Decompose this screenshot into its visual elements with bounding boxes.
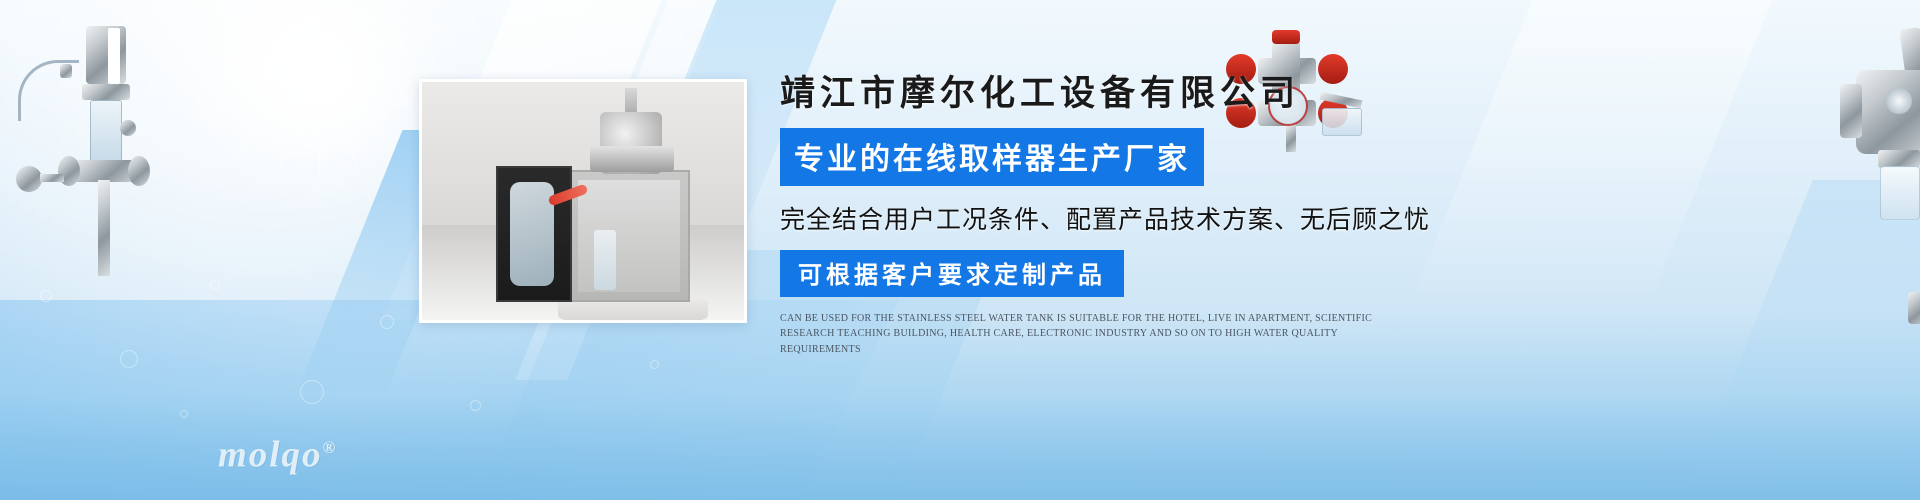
valve-flange	[1840, 84, 1862, 138]
english-description: CAN BE USED FOR THE STAINLESS STEEL WATE…	[780, 311, 1380, 358]
product-photo-inner	[422, 82, 744, 320]
sun-ray-icon	[169, 71, 319, 73]
photo-valve-flange	[590, 146, 674, 172]
sampler-side-port	[128, 156, 150, 186]
watermark-logo-text: molqo	[218, 435, 323, 476]
watermark-logo: molqo®	[218, 434, 337, 477]
bubble-icon	[120, 350, 138, 368]
banner-text-block: 靖江市摩尔化工设备有限公司 专业的在线取样器生产厂家 完全结合用户工况条件、配置…	[780, 72, 1400, 357]
registered-trademark-icon: ®	[323, 438, 338, 457]
promotional-banner: 靖江市摩尔化工设备有限公司 专业的在线取样器生产厂家 完全结合用户工况条件、配置…	[0, 0, 1920, 500]
sampler-label	[108, 28, 120, 84]
company-name: 靖江市摩尔化工设备有限公司	[780, 72, 1400, 116]
headline-highlight-secondary: 可根据客户要求定制产品	[780, 250, 1124, 297]
bubble-icon	[180, 410, 188, 418]
photo-door-window	[510, 182, 554, 286]
sample-bottle	[1880, 166, 1920, 220]
sun-ray-icon	[318, 72, 320, 222]
sampler-glass-tube	[90, 100, 122, 168]
bubble-icon	[650, 360, 659, 369]
product-photo	[419, 79, 747, 323]
bubble-icon	[300, 380, 324, 404]
sampler-probe	[98, 180, 110, 276]
sampler-gauge	[120, 120, 136, 136]
headline-highlight-primary-text: 专业的在线取样器生产厂家	[794, 142, 1190, 177]
bubble-icon	[470, 400, 481, 411]
sub-headline: 完全结合用户工况条件、配置产品技术方案、无后顾之忧	[780, 200, 1400, 236]
sun-ray-icon	[318, 0, 320, 72]
sun-ray-icon	[319, 71, 469, 73]
sampler-stem	[40, 174, 64, 182]
headline-highlight-primary: 专业的在线取样器生产厂家	[780, 128, 1204, 186]
sampler-housing	[86, 26, 126, 84]
bubble-icon	[380, 315, 394, 329]
valve-body	[1856, 70, 1920, 154]
valve-flange	[1908, 292, 1920, 324]
bubble-icon	[40, 290, 52, 302]
valve-port	[1886, 88, 1912, 114]
sampler-handwheel	[16, 166, 42, 192]
photo-cabinet-door	[496, 166, 572, 302]
red-top-cap	[1272, 30, 1300, 44]
sampler-flange	[82, 84, 130, 100]
photo-sample-bottle	[594, 230, 616, 290]
headline-highlight-secondary-text: 可根据客户要求定制产品	[798, 261, 1106, 289]
bubble-icon	[210, 280, 220, 290]
